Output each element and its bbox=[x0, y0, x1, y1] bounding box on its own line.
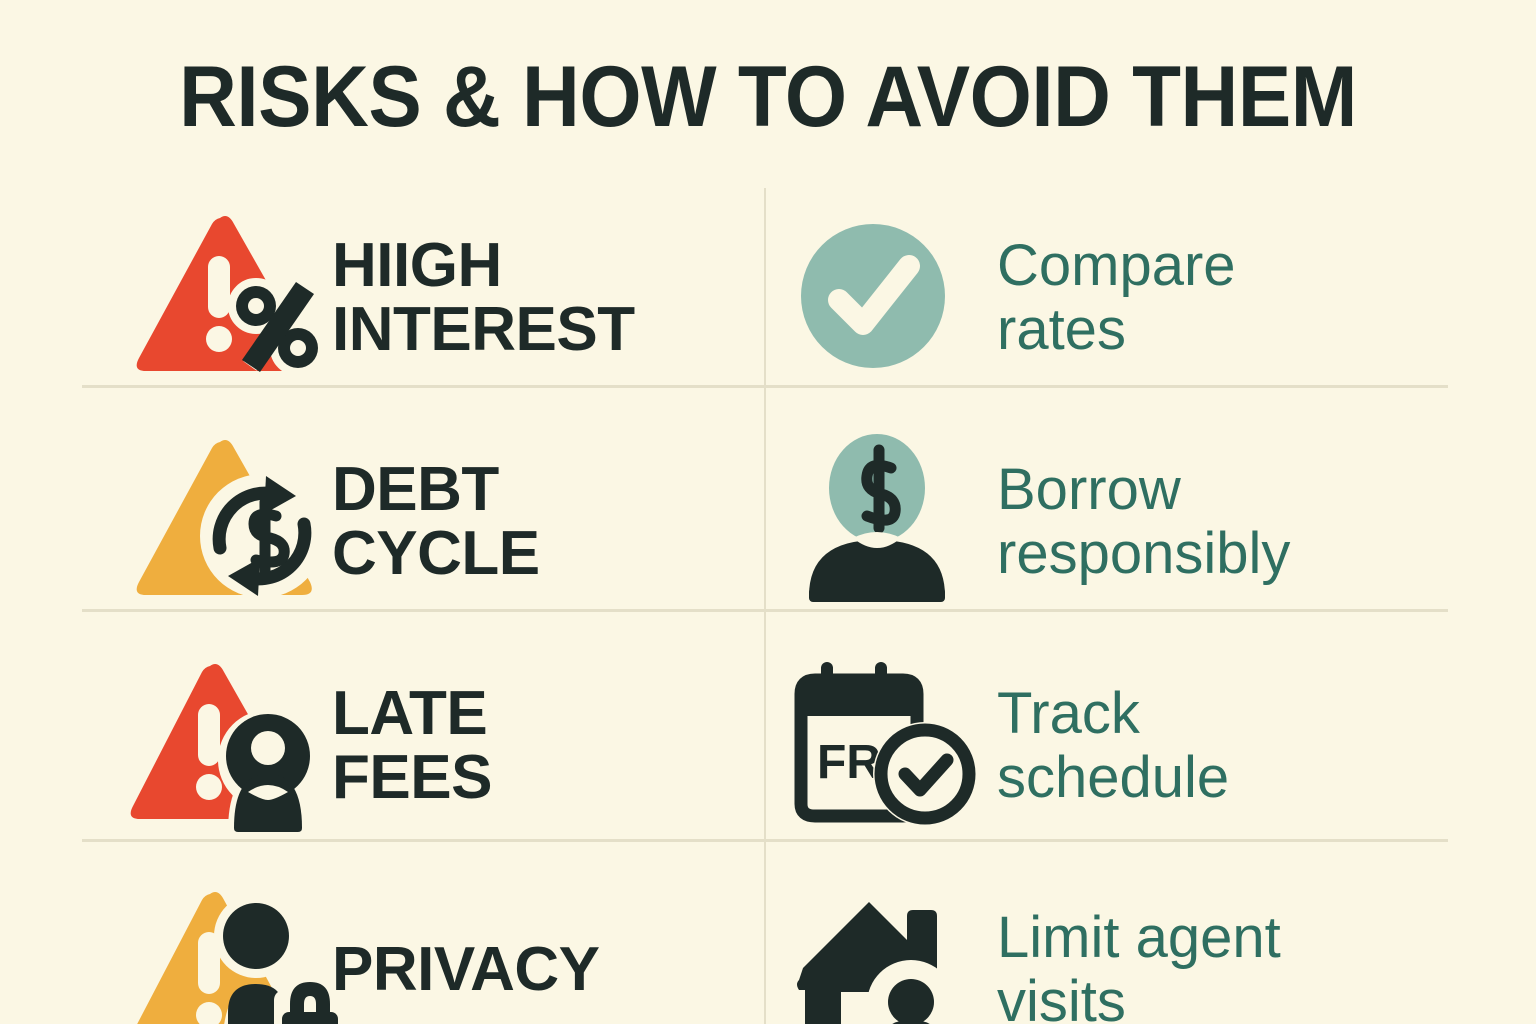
person-dollar-head-icon bbox=[797, 432, 987, 612]
warning-triangle-debt-cycle-icon bbox=[124, 432, 324, 612]
tip-label: Compare rates bbox=[987, 234, 1448, 362]
tip-cell-borrow-responsibly: Borrow responsibly bbox=[765, 410, 1448, 634]
warning-triangle-person-icon bbox=[124, 656, 324, 836]
risk-label: LATE FEES bbox=[324, 682, 765, 811]
check-circle-icon bbox=[797, 208, 987, 388]
tip-cell-compare-rates: Compare rates bbox=[765, 186, 1448, 410]
risk-label: PRIVACY bbox=[324, 938, 765, 1002]
tip-cell-track-schedule: FRI Track schedule bbox=[765, 634, 1448, 858]
risk-cell-debt-cycle: DEBT CYCLE bbox=[82, 410, 765, 634]
warning-triangle-percent-icon bbox=[124, 208, 324, 388]
table-row: HIIGH INTEREST Compare rates bbox=[82, 186, 1448, 410]
risk-cell-high-interest: HIIGH INTEREST bbox=[82, 186, 765, 410]
tip-label: Track schedule bbox=[987, 682, 1448, 810]
risk-tip-grid: HIIGH INTEREST Compare rates bbox=[82, 186, 1448, 1024]
table-row: DEBT CYCLE bbox=[82, 410, 1448, 634]
tip-label: Borrow responsibly bbox=[987, 458, 1448, 586]
risk-cell-privacy: PRIVACY bbox=[82, 858, 765, 1024]
table-row: PRIVACY Limit agent visits bbox=[82, 858, 1448, 1024]
warning-triangle-person-lock-icon bbox=[124, 880, 324, 1024]
page-title: RISKS & HOW TO AVOID THEM bbox=[54, 48, 1482, 147]
risk-cell-late-fees: LATE FEES bbox=[82, 634, 765, 858]
calendar-check-icon: FRI bbox=[797, 656, 987, 836]
table-row: LATE FEES FRI bbox=[82, 634, 1448, 858]
house-person-icon bbox=[797, 880, 987, 1024]
infographic-page: RISKS & HOW TO AVOID THEM bbox=[0, 0, 1536, 1024]
tip-cell-limit-agent-visits: Limit agent visits bbox=[765, 858, 1448, 1024]
risk-label: DEBT CYCLE bbox=[324, 458, 765, 587]
risk-label: HIIGH INTEREST bbox=[324, 234, 765, 363]
tip-label: Limit agent visits bbox=[987, 906, 1448, 1024]
